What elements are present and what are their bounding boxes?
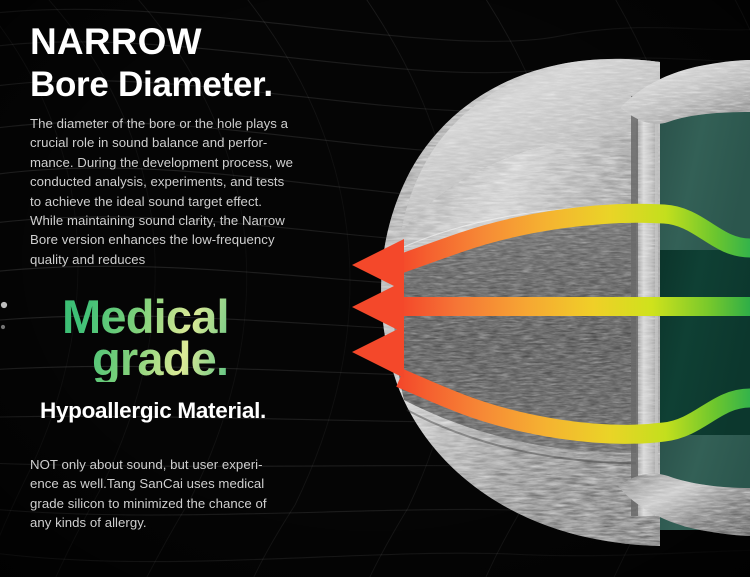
body-line: any kinds of allergy. xyxy=(30,513,360,532)
body-line: NOT only about sound, but user experi- xyxy=(30,455,360,474)
body-line: The diameter of the bore or the hole pla… xyxy=(30,114,375,133)
medical-grade-headline: Medical grade. xyxy=(30,294,360,382)
body-line: quality and reduces xyxy=(30,250,375,269)
body-line: to achieve the ideal sound target effect… xyxy=(30,192,375,211)
hypoallergic-subhead: Hypoallergic Material. xyxy=(30,398,360,424)
page-title: Bore Diameter. xyxy=(30,64,375,105)
body-line: While maintaining sound clarity, the Nar… xyxy=(30,211,375,230)
body-line: ence as well.Tang SanCai uses medical xyxy=(30,474,360,493)
body-line: conducted analysis, experiments, and tes… xyxy=(30,172,375,191)
page-eyebrow: NARROW xyxy=(30,22,375,62)
body-line: mance. During the development process, w… xyxy=(30,153,375,172)
medical-grade-body-block: NOT only about sound, but user experi- e… xyxy=(30,455,360,533)
narrow-bore-text-block: NARROW Bore Diameter. The diameter of th… xyxy=(30,22,375,269)
medical-grade-text-block: Medical grade. Hypoallergic Material. xyxy=(30,294,360,424)
poster-canvas: NARROW Bore Diameter. The diameter of th… xyxy=(0,0,750,577)
narrow-bore-body: The diameter of the bore or the hole pla… xyxy=(30,114,375,269)
body-line: grade silicon to minimized the chance of xyxy=(30,494,360,513)
body-line: Bore version enhances the low-frequency xyxy=(30,230,375,249)
body-line: crucial role in sound balance and perfor… xyxy=(30,133,375,152)
medical-grade-body: NOT only about sound, but user experi- e… xyxy=(30,455,360,533)
